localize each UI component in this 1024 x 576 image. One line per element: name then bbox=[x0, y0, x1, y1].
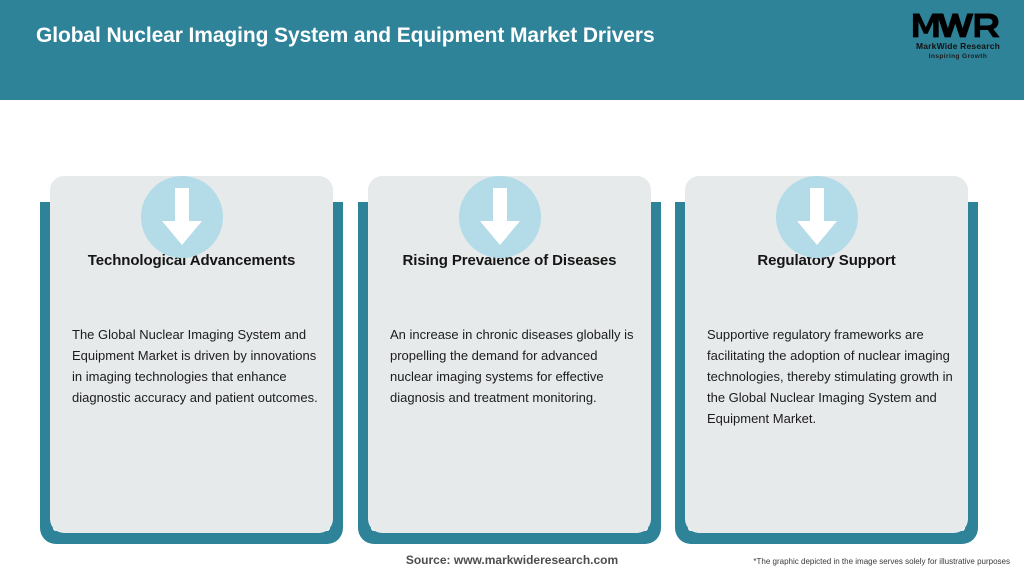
brand-logo: MarkWide Research Inspiring Growth bbox=[910, 10, 1006, 68]
page-header: Global Nuclear Imaging System and Equipm… bbox=[0, 0, 1024, 100]
down-arrow-icon bbox=[141, 176, 223, 258]
page-title: Global Nuclear Imaging System and Equipm… bbox=[36, 24, 655, 48]
card-body: The Global Nuclear Imaging System and Eq… bbox=[72, 324, 324, 408]
logo-tagline: Inspiring Growth bbox=[929, 52, 987, 61]
card-body: Supportive regulatory frameworks are fac… bbox=[707, 324, 959, 429]
disclaimer-note: *The graphic depicted in the image serve… bbox=[753, 557, 1010, 566]
driver-card: Regulatory Support Supportive regulatory… bbox=[675, 176, 978, 544]
logo-company-name: MarkWide Research bbox=[916, 41, 1000, 52]
down-arrow-icon bbox=[776, 176, 858, 258]
driver-card: Technological Advancements The Global Nu… bbox=[40, 176, 343, 544]
mwr-logo-icon bbox=[912, 10, 1004, 40]
card-body: An increase in chronic diseases globally… bbox=[390, 324, 642, 408]
driver-card: Rising Prevalence of Diseases An increas… bbox=[358, 176, 661, 544]
down-arrow-icon bbox=[459, 176, 541, 258]
